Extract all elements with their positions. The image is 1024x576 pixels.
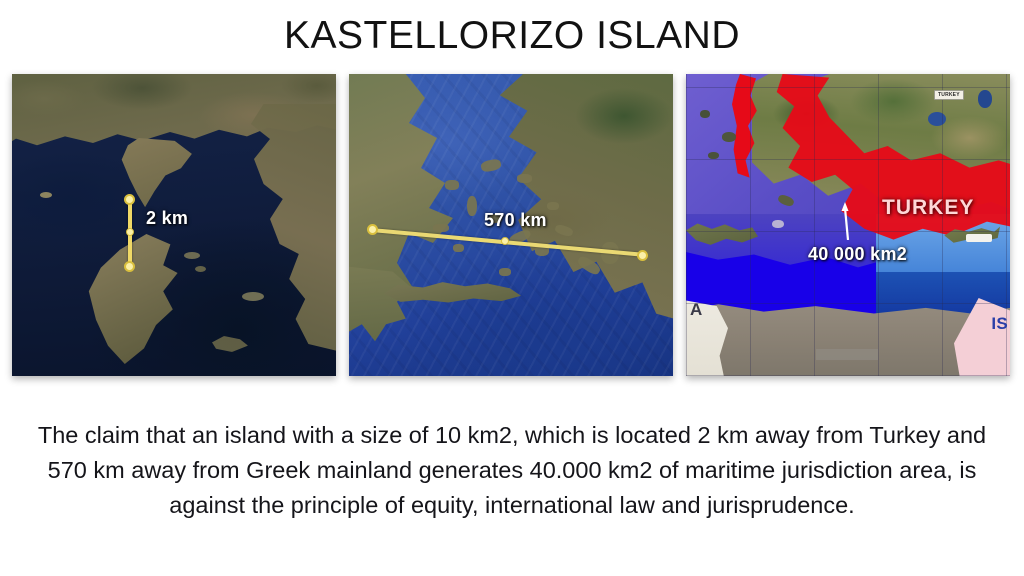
greek-island bbox=[708, 152, 719, 159]
page-title: KASTELLORIZO ISLAND bbox=[0, 12, 1024, 60]
aegean-island bbox=[517, 174, 532, 183]
edge-label-left: A bbox=[690, 300, 703, 320]
map-panel-aegean-distance[interactable]: 570 km bbox=[349, 74, 673, 376]
measure-midpoint-dot bbox=[126, 228, 134, 236]
aegean-island bbox=[499, 268, 511, 276]
distance-label-570km: 570 km bbox=[484, 210, 547, 231]
measure-midpoint-dot bbox=[501, 237, 509, 245]
distance-label-2km: 2 km bbox=[146, 208, 188, 229]
islet bbox=[184, 252, 200, 259]
map-panel-strip: 2 km 570 km bbox=[12, 74, 1012, 376]
measure-endpoint-dot bbox=[124, 194, 135, 205]
aegean-island bbox=[453, 244, 464, 252]
country-label-turkey: TURKEY bbox=[882, 196, 974, 220]
slide-caption: The claim that an island with a size of … bbox=[32, 418, 992, 523]
cyprus-island-highlight bbox=[966, 234, 992, 242]
aegean-island bbox=[467, 196, 477, 216]
aegean-island bbox=[445, 180, 459, 190]
greek-island bbox=[772, 220, 784, 228]
measure-endpoint-dot bbox=[637, 250, 648, 261]
islet bbox=[195, 266, 206, 272]
inland-lake bbox=[978, 90, 992, 108]
area-label-40000-km2: 40 000 km2 bbox=[808, 244, 907, 265]
islet bbox=[242, 292, 264, 301]
up-arrow-icon bbox=[840, 200, 854, 240]
measure-endpoint-dot bbox=[124, 261, 135, 272]
map-panel-maritime-jurisdiction[interactable]: TURKEY 40 000 km2 A IS TURKEY bbox=[686, 74, 1010, 376]
greek-island bbox=[722, 132, 736, 142]
map-panel-kastellorizo-turkey[interactable]: 2 km bbox=[12, 74, 336, 376]
map-scale-box bbox=[816, 349, 878, 360]
edge-label-right: IS bbox=[991, 314, 1008, 334]
islet bbox=[40, 192, 52, 198]
inset-place-label: TURKEY bbox=[934, 90, 964, 100]
aegean-island bbox=[547, 202, 559, 210]
aegean-island bbox=[433, 224, 449, 232]
measure-endpoint-dot bbox=[367, 224, 378, 235]
inland-lake bbox=[928, 112, 946, 126]
greek-island bbox=[700, 110, 710, 118]
